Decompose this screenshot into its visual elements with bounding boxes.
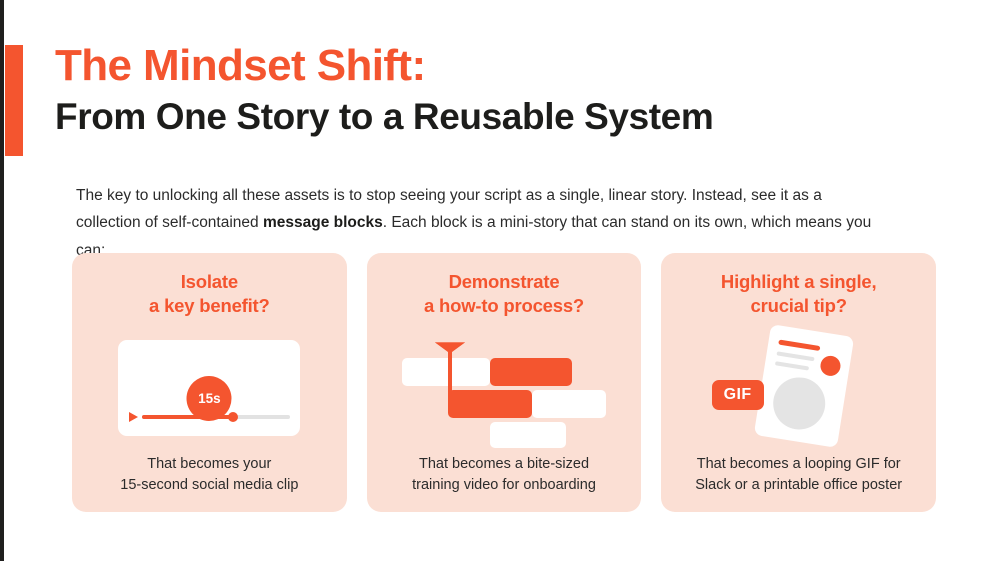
poster-circle-graphic	[769, 374, 828, 433]
timeline-clip	[490, 358, 572, 386]
playhead-stem	[448, 346, 452, 408]
slide: The Mindset Shift: From One Story to a R…	[0, 0, 1001, 561]
card-illustration	[379, 323, 630, 454]
heading-line-1: The Mindset Shift:	[55, 42, 955, 90]
heading-line-2: From One Story to a Reusable System	[55, 96, 955, 137]
card-caption: That becomes a looping GIF for Slack or …	[695, 454, 902, 496]
card-isolate-benefit[interactable]: Isolate a key benefit? 15s That becomes …	[72, 253, 347, 512]
card-caption: That becomes your 15-second social media…	[120, 454, 298, 496]
card-title: Isolate a key benefit?	[149, 270, 270, 319]
timeline-mock	[402, 336, 606, 440]
slide-edge-strip	[0, 0, 4, 561]
poster-accent-dot-icon	[819, 355, 842, 378]
card-title: Highlight a single, crucial tip?	[721, 270, 877, 319]
card-highlight-tip[interactable]: Highlight a single, crucial tip? GIF Tha…	[661, 253, 936, 512]
card-row: Isolate a key benefit? 15s That becomes …	[72, 253, 936, 512]
video-player-mock: 15s	[118, 340, 300, 436]
title-accent-bar	[5, 45, 23, 156]
poster-body-line	[775, 362, 809, 371]
player-scrubber[interactable]	[129, 412, 290, 422]
poster-body-line	[776, 352, 814, 362]
timeline-clip	[490, 422, 566, 448]
card-illustration: GIF	[673, 323, 924, 454]
card-caption: That becomes a bite-sized training video…	[412, 454, 596, 496]
play-icon[interactable]	[129, 412, 138, 422]
card-title: Demonstrate a how-to process?	[424, 270, 584, 319]
poster-heading-line	[778, 340, 820, 352]
progress-knob[interactable]	[228, 412, 238, 422]
progress-track[interactable]	[142, 415, 290, 419]
playhead-marker-icon[interactable]	[435, 342, 465, 353]
playhead-foot	[448, 404, 464, 408]
gif-badge: GIF	[712, 380, 764, 410]
card-illustration: 15s	[84, 323, 335, 454]
poster-mock: GIF	[704, 328, 894, 448]
page-title: The Mindset Shift: From One Story to a R…	[55, 42, 955, 137]
timeline-clip	[402, 358, 490, 386]
progress-fill	[142, 415, 232, 419]
card-demonstrate-process[interactable]: Demonstrate a how-to process? That becom…	[367, 253, 642, 512]
intro-emphasis: message blocks	[263, 214, 383, 231]
intro-paragraph: The key to unlocking all these assets is…	[76, 182, 886, 265]
poster-sheet	[753, 325, 853, 449]
timeline-clip	[532, 390, 606, 418]
